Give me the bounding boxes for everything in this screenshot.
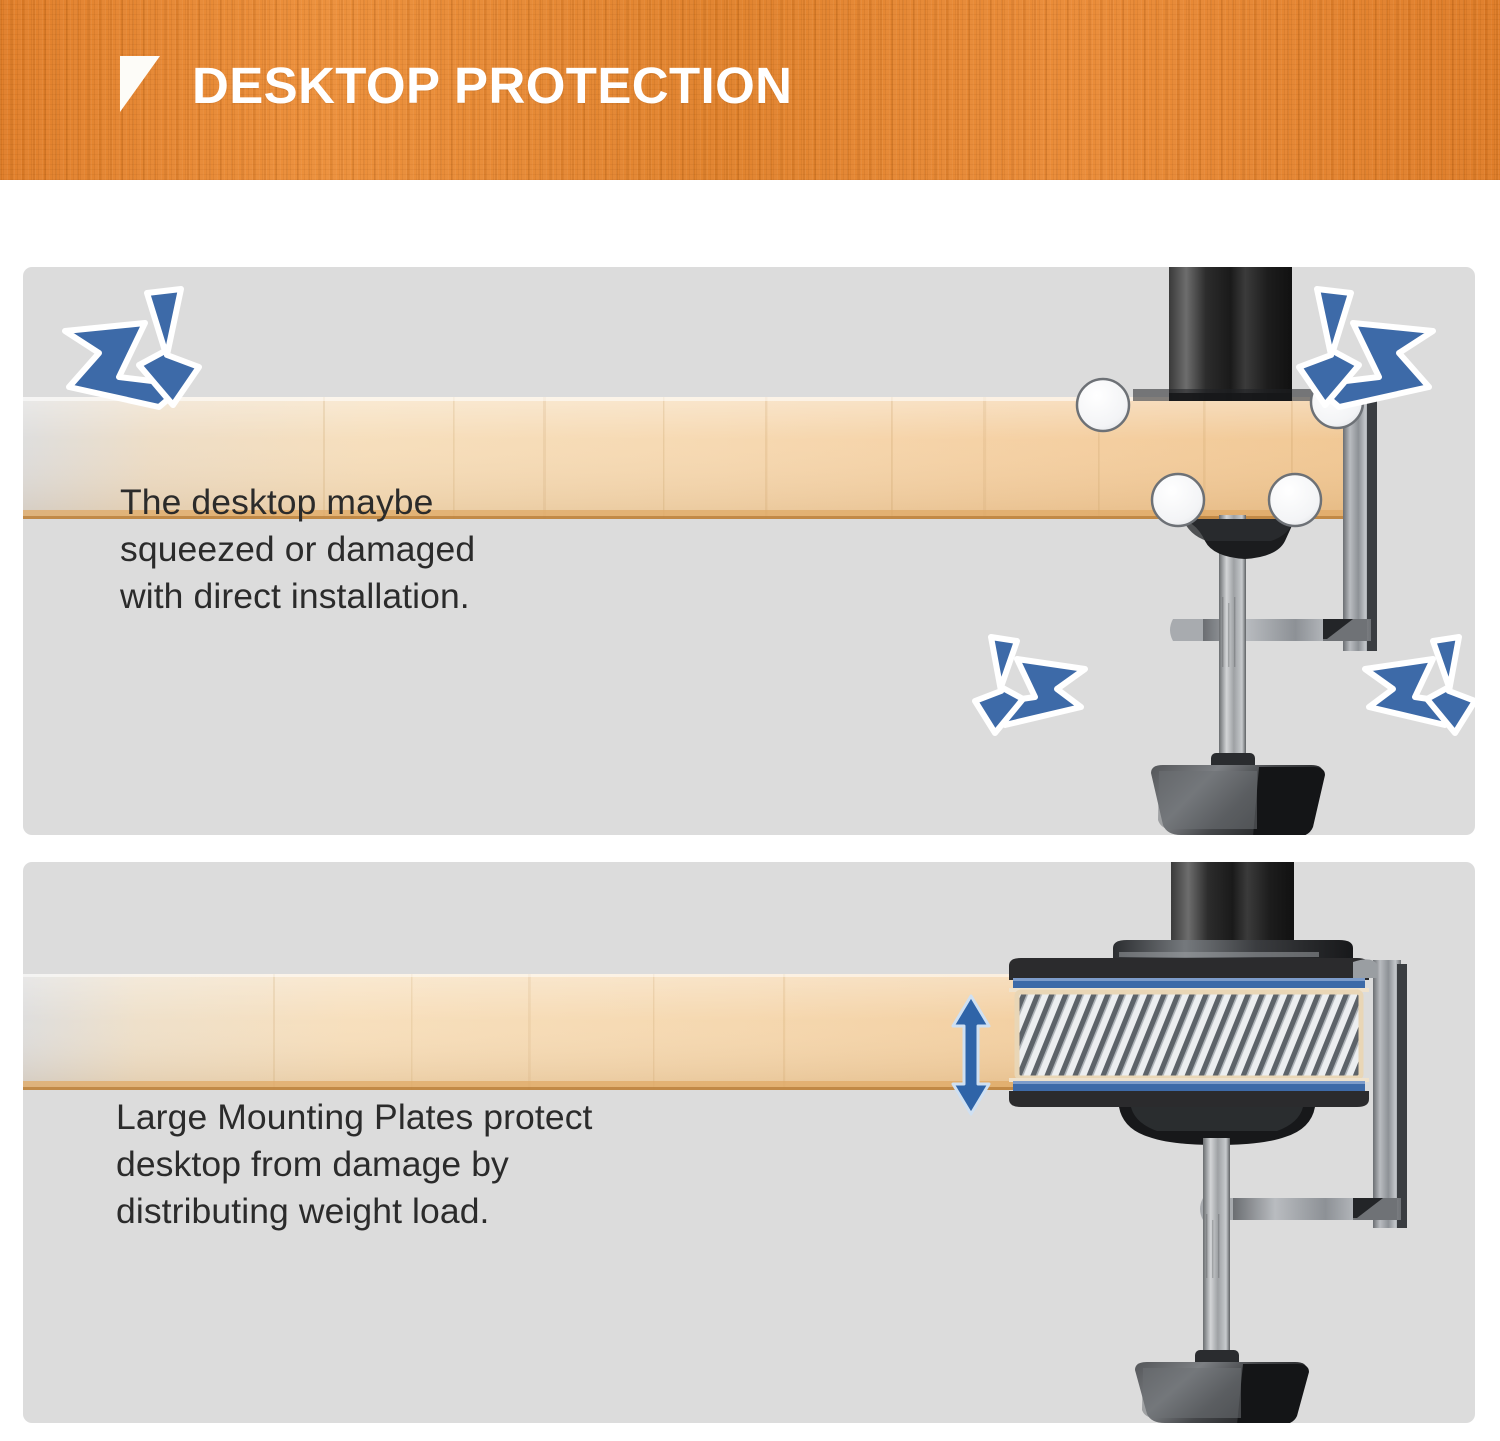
panel-solution-caption: Large Mounting Plates protect desktop fr…: [116, 1094, 593, 1235]
pressure-point-top-left: [1077, 379, 1129, 431]
pressure-point-bottom-left: [1152, 474, 1204, 526]
top-mounting-plate: [1009, 958, 1369, 992]
panel-problem-caption: The desktop maybe squeezed or damaged wi…: [120, 479, 475, 620]
load-distribution-hatching: [1017, 992, 1361, 1078]
bottom-mounting-plate: [1009, 1078, 1369, 1107]
pole-base-shadow: [1133, 389, 1333, 401]
panel-problem: The desktop maybe squeezed or damaged wi…: [23, 267, 1475, 835]
clamp-knob: [1151, 753, 1325, 835]
clamp-screw-shaft: [1203, 1138, 1230, 1364]
under-desk-contact-plate: [1175, 519, 1295, 559]
page-title: DESKTOP PROTECTION: [192, 60, 792, 111]
panel-solution: Large Mounting Plates protect desktop fr…: [23, 862, 1475, 1423]
clamp-knob: [1135, 1350, 1309, 1423]
header-banner: DESKTOP PROTECTION: [0, 0, 1500, 180]
flag-triangle-icon: [118, 54, 162, 116]
black-monitor-pole: [1169, 267, 1292, 401]
banner-content: DESKTOP PROTECTION: [118, 54, 792, 116]
pressure-point-bottom-right: [1269, 474, 1321, 526]
